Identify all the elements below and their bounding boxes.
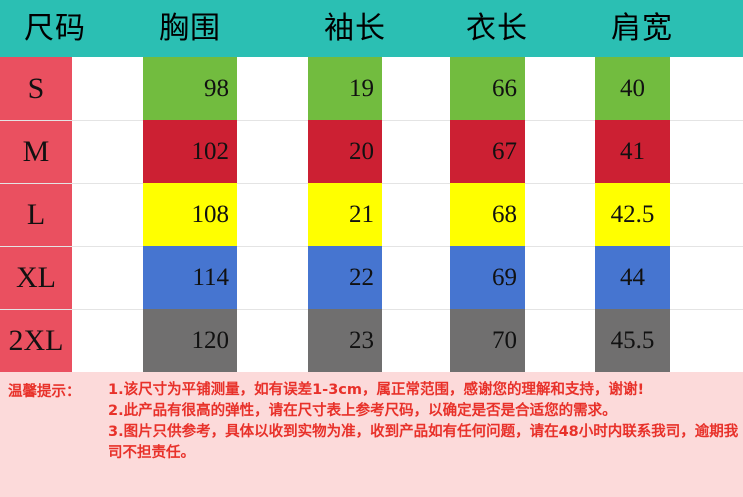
table-row: L108216842.5	[0, 183, 743, 246]
size-label-s: S	[0, 57, 72, 120]
cell-bust-2xl: 120	[143, 309, 237, 372]
cell-shoulder-m: 41	[595, 120, 670, 183]
cell-bust-s: 98	[143, 57, 237, 120]
column-header-size: 尺码	[0, 0, 110, 57]
column-header-length: 衣长	[427, 0, 567, 57]
footer-notes: 温馨提示： 1.该尺寸为平铺测量，如有误差1-3cm，属正常范围，感谢您的理解和…	[0, 372, 743, 497]
cell-bust-l: 108	[143, 183, 237, 246]
cell-sleeve-2xl: 23	[308, 309, 382, 372]
cell-bust-m: 102	[143, 120, 237, 183]
table-row: XL114226944	[0, 246, 743, 309]
cell-sleeve-s: 19	[308, 57, 382, 120]
cell-length-s: 66	[450, 57, 525, 120]
cell-length-xl: 69	[450, 246, 525, 309]
footer-note-list: 1.该尺寸为平铺测量，如有误差1-3cm，属正常范围，感谢您的理解和支持，谢谢!…	[108, 380, 743, 464]
cell-length-l: 68	[450, 183, 525, 246]
table-row: S98196640	[0, 57, 743, 120]
table-row: M102206741	[0, 120, 743, 183]
column-header-sleeve: 袖长	[285, 0, 425, 57]
table-row: 2XL120237045.5	[0, 309, 743, 372]
cell-shoulder-xl: 44	[595, 246, 670, 309]
footer-note-3: 3.图片只供参考，具体以收到实物为准，收到产品如有任何问题，请在48小时内联系我…	[108, 422, 743, 464]
cell-shoulder-s: 40	[595, 57, 670, 120]
footer-label: 温馨提示：	[8, 380, 81, 401]
size-label-2xl: 2XL	[0, 309, 72, 372]
table-body: S98196640M102206741L108216842.5XL1142269…	[0, 57, 743, 372]
size-label-l: L	[0, 183, 72, 246]
cell-shoulder-2xl: 45.5	[595, 309, 670, 372]
cell-sleeve-m: 20	[308, 120, 382, 183]
size-label-xl: XL	[0, 246, 72, 309]
cell-shoulder-l: 42.5	[595, 183, 670, 246]
cell-sleeve-xl: 22	[308, 246, 382, 309]
cell-bust-xl: 114	[143, 246, 237, 309]
column-header-bust: 胸围	[120, 0, 260, 57]
cell-length-m: 67	[450, 120, 525, 183]
table-header-row: 尺码 胸围 袖长 衣长 肩宽	[0, 0, 743, 57]
size-label-m: M	[0, 120, 72, 183]
footer-note-1: 1.该尺寸为平铺测量，如有误差1-3cm，属正常范围，感谢您的理解和支持，谢谢!	[108, 380, 743, 401]
cell-length-2xl: 70	[450, 309, 525, 372]
footer-note-2: 2.此产品有很高的弹性，请在尺寸表上参考尺码，以确定是否是合适您的需求。	[108, 401, 743, 422]
cell-sleeve-l: 21	[308, 183, 382, 246]
size-chart-page: 尺码 胸围 袖长 衣长 肩宽 S98196640M102206741L10821…	[0, 0, 743, 497]
column-header-shoulder: 肩宽	[572, 0, 712, 57]
